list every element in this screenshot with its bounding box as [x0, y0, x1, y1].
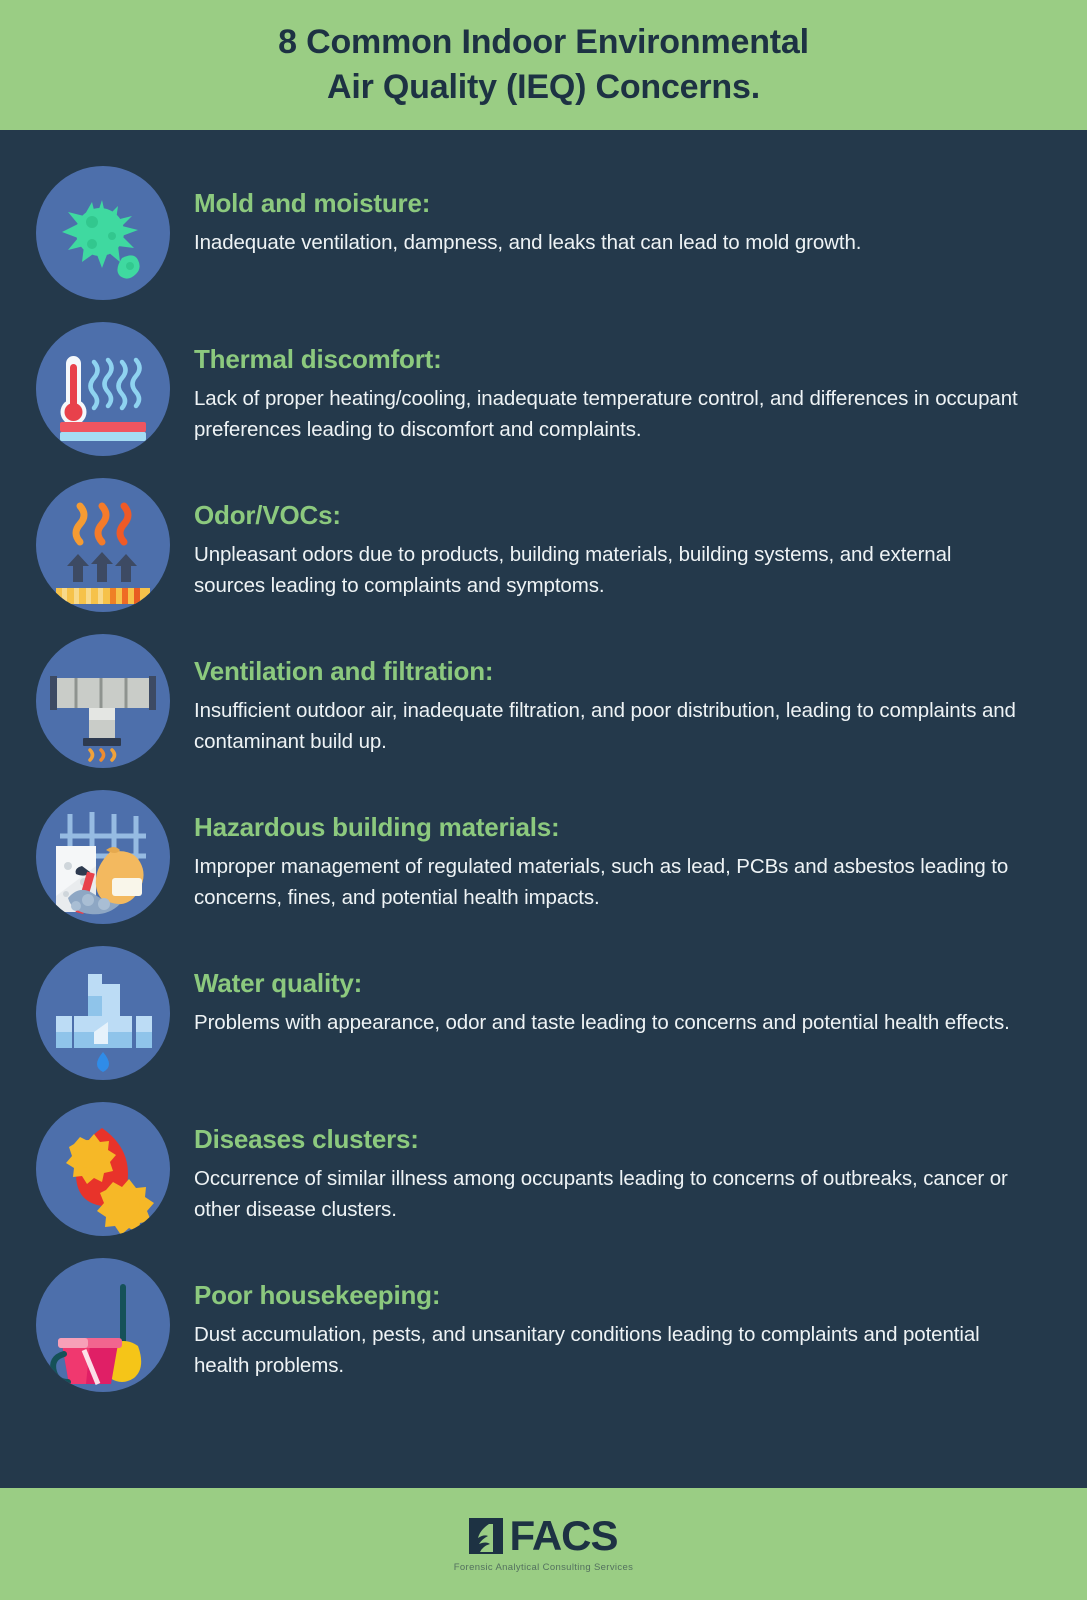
list-item: Ventilation and filtration: Insufficient… [0, 634, 1087, 780]
list-item-text: Water quality: Problems with appearance,… [194, 946, 1061, 1038]
list-item-body: Lack of proper heating/cooling, inadequa… [194, 383, 1024, 445]
list-item-text: Thermal discomfort: Lack of proper heati… [194, 322, 1061, 445]
list-item-body: Unpleasant odors due to products, buildi… [194, 539, 1024, 601]
mold-germ-icon [36, 166, 170, 300]
list-item: Thermal discomfort: Lack of proper heati… [0, 322, 1087, 468]
list-item-heading: Diseases clusters: [194, 1124, 1061, 1155]
page-title-line1: 8 Common Indoor Environmental [278, 23, 809, 61]
header-banner: 8 Common Indoor Environmental Air Qualit… [0, 0, 1087, 130]
page-title: 8 Common Indoor Environmental Air Qualit… [278, 20, 809, 110]
list-item-heading: Water quality: [194, 968, 1061, 999]
page-title-line2: Air Quality (IEQ) Concerns. [278, 65, 809, 110]
list-item: Mold and moisture: Inadequate ventilatio… [0, 166, 1087, 312]
air-vent-filter-icon [36, 634, 170, 768]
list-item: Hazardous building materials: Improper m… [0, 790, 1087, 936]
list-item-body: Insufficient outdoor air, inadequate fil… [194, 695, 1024, 757]
list-item-text: Odor/VOCs: Unpleasant odors due to produ… [194, 478, 1061, 601]
odor-vapor-icon [36, 478, 170, 612]
thermometer-heat-waves-icon [36, 322, 170, 456]
facs-logo: FACS [469, 1515, 617, 1557]
infographic-page: 8 Common Indoor Environmental Air Qualit… [0, 0, 1087, 1600]
list-item-body: Inadequate ventilation, dampness, and le… [194, 227, 1024, 258]
facs-tagline: Forensic Analytical Consulting Services [454, 1562, 633, 1573]
list-item: Water quality: Problems with appearance,… [0, 946, 1087, 1092]
list-item-heading: Poor housekeeping: [194, 1280, 1061, 1311]
concerns-list: Mold and moisture: Inadequate ventilatio… [0, 130, 1087, 1488]
list-item-text: Poor housekeeping: Dust accumulation, pe… [194, 1258, 1061, 1381]
list-item-heading: Mold and moisture: [194, 188, 1061, 219]
hazardous-materials-icon [36, 790, 170, 924]
facs-logo-text: FACS [509, 1515, 617, 1557]
list-item-heading: Odor/VOCs: [194, 500, 1061, 531]
virus-cluster-icon [36, 1102, 170, 1236]
bucket-mop-icon [36, 1258, 170, 1392]
list-item-heading: Ventilation and filtration: [194, 656, 1061, 687]
list-item: Diseases clusters: Occurrence of similar… [0, 1102, 1087, 1248]
facs-logo-mark-icon [469, 1518, 503, 1554]
list-item-text: Hazardous building materials: Improper m… [194, 790, 1061, 913]
list-item: Poor housekeeping: Dust accumulation, pe… [0, 1258, 1087, 1404]
list-item-body: Occurrence of similar illness among occu… [194, 1163, 1024, 1225]
footer-banner: FACS Forensic Analytical Consulting Serv… [0, 1488, 1087, 1600]
list-item-text: Ventilation and filtration: Insufficient… [194, 634, 1061, 757]
list-item-body: Dust accumulation, pests, and unsanitary… [194, 1319, 1024, 1381]
list-item-text: Mold and moisture: Inadequate ventilatio… [194, 166, 1061, 258]
list-item-body: Problems with appearance, odor and taste… [194, 1007, 1024, 1038]
list-item-heading: Hazardous building materials: [194, 812, 1061, 843]
list-item-text: Diseases clusters: Occurrence of similar… [194, 1102, 1061, 1225]
list-item-heading: Thermal discomfort: [194, 344, 1061, 375]
list-item: Odor/VOCs: Unpleasant odors due to produ… [0, 478, 1087, 624]
list-item-body: Improper management of regulated materia… [194, 851, 1024, 913]
water-faucet-droplet-icon [36, 946, 170, 1080]
